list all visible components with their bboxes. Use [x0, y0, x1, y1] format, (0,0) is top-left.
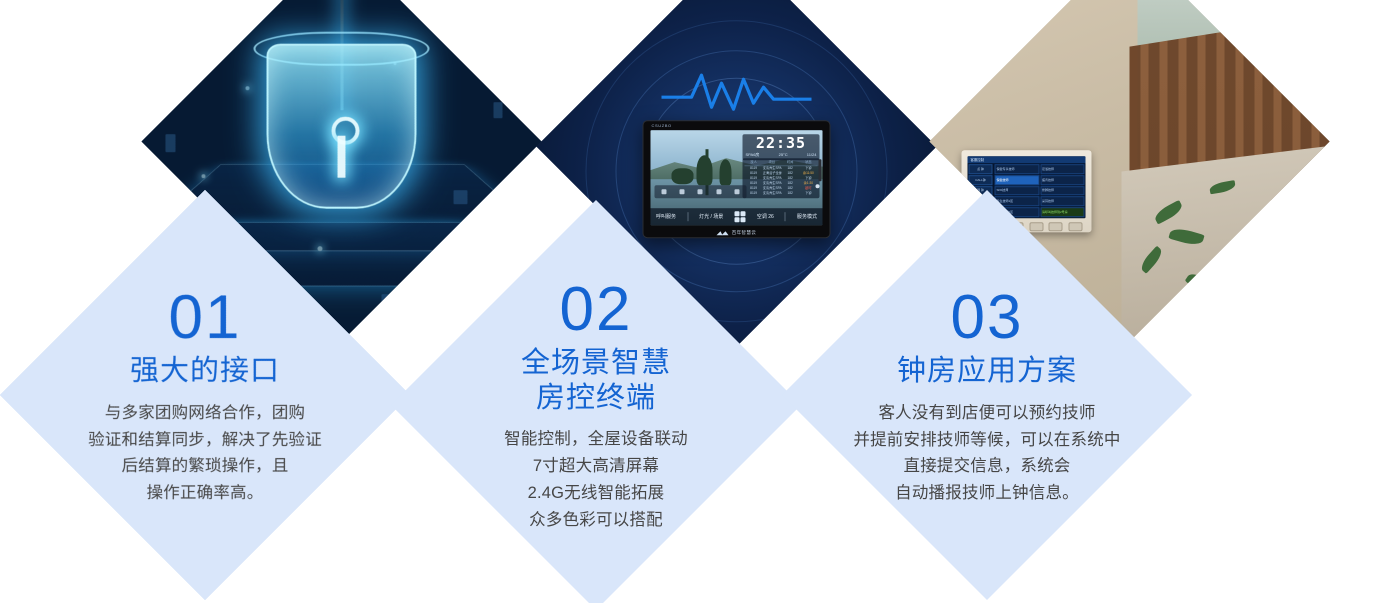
play-icon[interactable] [680, 189, 685, 194]
card-1-description: 与多家团购网络合作，团购 验证和结算同步，解决了先验证 后结算的繁琐操作，且 操… [60, 400, 350, 507]
divider [687, 212, 688, 221]
tablet-service-table: 技人 项目 时间 状态 8119沈清养生SPA 182下钟 8119正海浴子全身… [743, 158, 820, 198]
mute-icon[interactable] [735, 189, 740, 194]
menu-item[interactable]: CALL钟 [969, 175, 993, 185]
card-3-number: 03 [842, 285, 1132, 350]
menu-item[interactable]: 点 钟 [969, 164, 993, 174]
panel-column-2[interactable]: 足浴技师 搓背技师 修脚技师 采耳技师 请呼叫技师到2号房 [1040, 164, 1085, 217]
media-control-bar[interactable] [655, 185, 747, 198]
next-icon[interactable] [698, 189, 703, 194]
tablet-clock-widget: 22:35 SPA6房 25°C 11/24 [743, 134, 820, 160]
dock-item-call[interactable]: 呼叫服务 [656, 213, 676, 220]
list-item[interactable]: 保健专享技师 [995, 164, 1040, 174]
divider [785, 212, 786, 221]
panel-button[interactable] [1049, 222, 1063, 231]
list-item-selected[interactable]: 保健技师 [995, 175, 1040, 185]
dock-item-service[interactable]: 服务模式 [797, 213, 817, 220]
shield-lock-icon [267, 43, 417, 208]
dock-item-light[interactable]: 灯光 / 场景 [699, 213, 723, 220]
feature-diamond-stage: 01 强大的接口 与多家团购网络合作，团购 验证和结算同步，解决了先验证 后结算… [0, 0, 1381, 603]
pulse-waveform-icon [662, 63, 812, 122]
list-item[interactable]: 采耳技师 [1040, 196, 1085, 206]
volume-icon[interactable] [716, 189, 721, 194]
panel-button[interactable] [1029, 222, 1043, 231]
panel-title-bar: 客服控制 [968, 156, 1086, 163]
tablet-brand: CSUZBO [652, 123, 672, 128]
dock-item-ac[interactable]: 空调 26 [757, 213, 774, 220]
card-1-number: 01 [60, 285, 350, 350]
card-3-title: 钟房应用方案 [842, 354, 1132, 389]
list-item[interactable]: 足浴技师 [1040, 164, 1085, 174]
prev-icon[interactable] [661, 189, 666, 194]
tablet-footer-brand: 百年智慧云 [644, 230, 830, 236]
room-control-tablet[interactable]: CSUZBO 22:35 SPA6房 25°C 11/24 [643, 120, 831, 238]
tablet-screen[interactable]: 22:35 SPA6房 25°C 11/24 技人 项目 时间 状态 [651, 130, 823, 225]
card-2-description: 智能控制，全屋设备联动 7寸超大高清屏幕 2.4G无线智能拓展 众多色彩可以搭配 [451, 426, 741, 533]
apps-grid-icon[interactable] [734, 211, 746, 223]
tablet-time: 22:35 [746, 136, 817, 151]
card-3-description: 客人没有到店便可以预约技师 并提前安排技师等候，可以在系统中 直接提交信息，系统… [842, 400, 1132, 507]
card-1-title: 强大的接口 [60, 354, 350, 389]
panel-title: 客服控制 [971, 157, 985, 162]
tablet-dock[interactable]: 呼叫服务 灯光 / 场景 空调 26 服务模式 [651, 208, 823, 225]
list-item[interactable]: 搓背技师 [1040, 175, 1085, 185]
table-row: 8119沈清养生SPA 182下钟 [745, 191, 818, 196]
card-2-title: 全场景智慧 房控终端 [451, 346, 741, 417]
floor-area [1122, 144, 1330, 341]
list-item-alert[interactable]: 请呼叫技师到2号房 [1040, 207, 1085, 217]
list-item[interactable]: 修脚技师 [1040, 185, 1085, 195]
tablet-side-button[interactable] [818, 159, 821, 181]
brand-logo-icon [717, 231, 729, 236]
panel-button[interactable] [1069, 222, 1083, 231]
list-item[interactable]: SPA技师 [995, 185, 1040, 195]
